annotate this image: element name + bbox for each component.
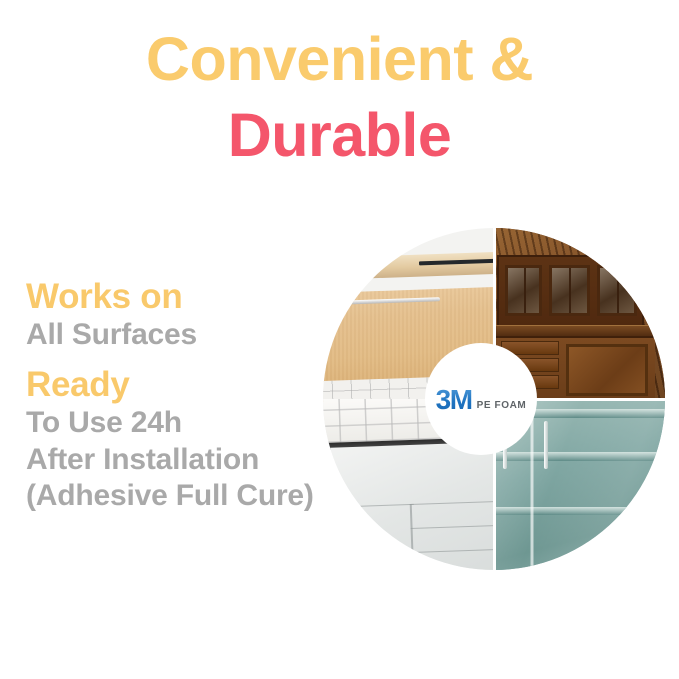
drawer-seam [323, 504, 414, 510]
glass-pane [549, 265, 589, 315]
drawer-seam [412, 548, 494, 553]
feature-item-works-on: Works on [26, 276, 356, 317]
mullion [569, 268, 571, 312]
feature-item-ready: Ready [26, 364, 356, 405]
headline-line-1: Convenient & [0, 30, 679, 90]
drawer-seam [410, 504, 414, 570]
mullion [524, 268, 526, 312]
mullion [617, 268, 619, 312]
headline-line-2: Durable [0, 106, 679, 166]
brand-badge-content: 3M PE FOAM [436, 386, 527, 414]
feature-item-to-use-24h: To Use 24h [26, 405, 356, 442]
drawer-seam [411, 524, 494, 529]
upper-shelf [323, 252, 494, 282]
glass-pane [505, 265, 542, 315]
three-m-logo: 3M [436, 386, 472, 414]
feature-item-adhesive-full-cure: (Adhesive Full Cure) [26, 478, 356, 515]
drawer-seam [410, 500, 494, 505]
feature-list: Works on All Surfaces Ready To Use 24h A… [26, 276, 356, 515]
promo-image: Convenient & Durable Works on All Surfac… [0, 0, 679, 679]
feature-item-after-installation: After Installation [26, 442, 356, 479]
feature-spacer [26, 354, 356, 364]
feature-item-all-surfaces: All Surfaces [26, 317, 356, 354]
brand-badge: 3M PE FOAM [425, 343, 537, 455]
glass-pane [597, 265, 637, 315]
product-name-label: PE FOAM [477, 401, 527, 414]
white-cabinet-body [323, 442, 494, 570]
hutch-door-panel [566, 344, 648, 395]
page-title: Convenient & Durable [0, 30, 679, 166]
hutch-upper-cabinet [497, 255, 644, 327]
